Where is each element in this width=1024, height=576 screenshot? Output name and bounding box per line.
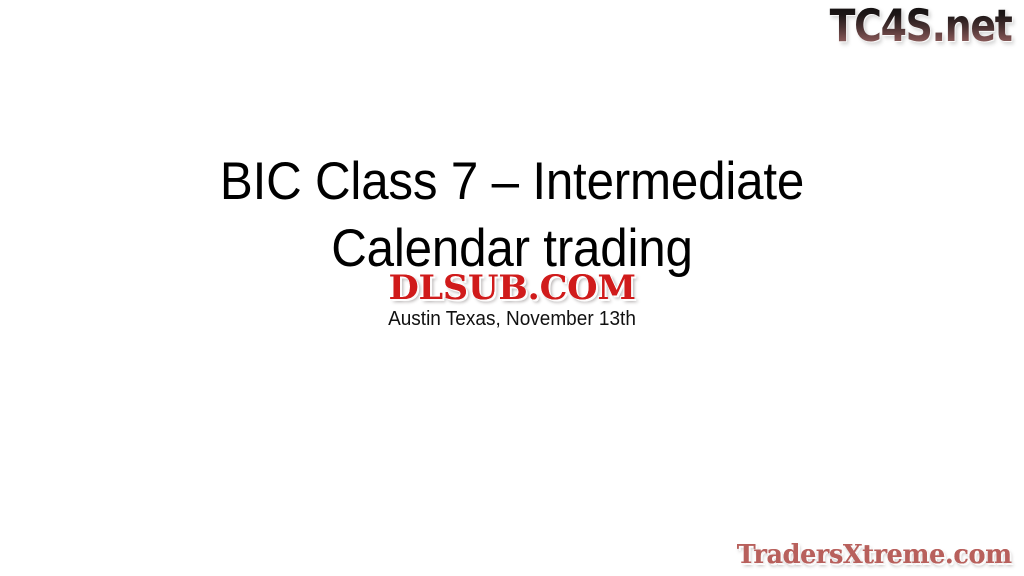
slide-title: BIC Class 7 – Intermediate Calendar trad… [36, 148, 988, 282]
tradersxtreme-watermark: TradersXtreme.com TradersXtreme.com [734, 540, 1014, 570]
title-block: BIC Class 7 – Intermediate Calendar trad… [0, 148, 1024, 282]
slide-subtitle: Austin Texas, November 13th [26, 307, 999, 332]
tradersxtreme-watermark-fill-layer: TradersXtreme.com [734, 540, 1014, 570]
tradersxtreme-watermark-stroke: TradersXtreme.com [736, 540, 1011, 570]
presentation-slide: TC4S.net BIC Class 7 – Intermediate Cale… [0, 0, 1024, 576]
tradersxtreme-watermark-fill: TradersXtreme.com [736, 540, 1011, 570]
tc4s-logo: TC4S.net [830, 2, 1012, 51]
